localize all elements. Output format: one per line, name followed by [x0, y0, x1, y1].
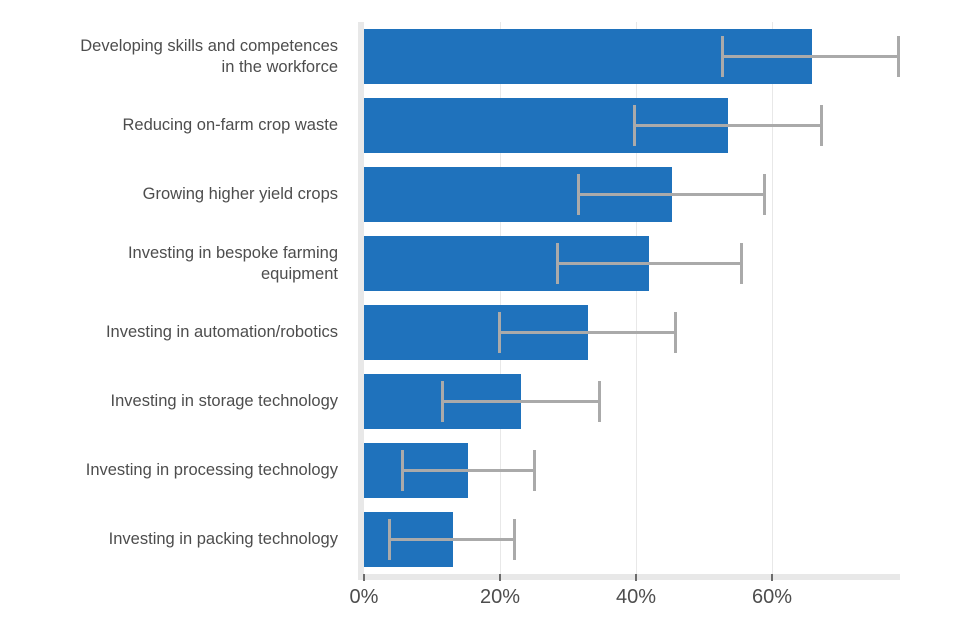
error-bar-line [721, 55, 900, 58]
category-label-text: Investing in packing technology [109, 529, 338, 550]
error-bar-cap-lower [388, 519, 391, 560]
error-bar-cap-upper [674, 312, 677, 353]
category-label-text: Reducing on-farm crop waste [122, 115, 338, 136]
category-label-text: Investing in processing technology [86, 460, 338, 481]
error-bar-cap-upper [820, 105, 823, 146]
error-bar-line [498, 331, 677, 334]
bar-row[interactable] [364, 229, 900, 298]
bar-chart: Developing skills and competences in the… [0, 0, 960, 640]
x-tick-mark [363, 574, 365, 581]
x-tick-label: 20% [480, 586, 520, 609]
bar-row[interactable] [364, 91, 900, 160]
category-label: Growing higher yield crops [0, 160, 352, 229]
error-bar-cap-lower [498, 312, 501, 353]
x-tick-mark [635, 574, 637, 581]
error-bar-cap-upper [598, 381, 601, 422]
plot-area [364, 22, 900, 574]
error-bar-line [388, 538, 516, 541]
bar-row[interactable] [364, 160, 900, 229]
category-label: Investing in packing technology [0, 505, 352, 574]
x-axis-ticks: 0%20%40%60% [0, 582, 960, 622]
category-label-text: Investing in automation/robotics [106, 322, 338, 343]
category-label-text: Investing in storage technology [111, 391, 338, 412]
category-label: Developing skills and competences in the… [0, 22, 352, 91]
category-label-text: Developing skills and competences in the… [80, 36, 338, 78]
x-tick-label: 40% [616, 586, 656, 609]
error-bar-line [401, 469, 536, 472]
x-axis-spine [358, 574, 900, 580]
bar-row[interactable] [364, 436, 900, 505]
bar-row[interactable] [364, 505, 900, 574]
error-bar-line [577, 193, 766, 196]
error-bar-cap-upper [763, 174, 766, 215]
error-bar-cap-upper [740, 243, 743, 284]
category-label: Investing in storage technology [0, 367, 352, 436]
category-label: Investing in automation/robotics [0, 298, 352, 367]
category-label: Investing in processing technology [0, 436, 352, 505]
error-bar-line [633, 124, 823, 127]
x-tick-label: 0% [350, 586, 379, 609]
category-label-text: Growing higher yield crops [143, 184, 338, 205]
y-axis-labels: Developing skills and competences in the… [0, 22, 352, 574]
error-bar-cap-lower [441, 381, 444, 422]
category-label: Reducing on-farm crop waste [0, 91, 352, 160]
x-tick-label: 60% [752, 586, 792, 609]
error-bar-line [556, 262, 743, 265]
error-bar-line [441, 400, 601, 403]
error-bar-cap-upper [533, 450, 536, 491]
error-bar-cap-upper [897, 36, 900, 77]
x-tick-mark [499, 574, 501, 581]
error-bar-cap-lower [577, 174, 580, 215]
error-bar-cap-lower [401, 450, 404, 491]
error-bar-cap-lower [556, 243, 559, 284]
category-label: Investing in bespoke farming equipment [0, 229, 352, 298]
bar-row[interactable] [364, 298, 900, 367]
x-tick-mark [771, 574, 773, 581]
error-bar-cap-lower [633, 105, 636, 146]
error-bar-cap-upper [513, 519, 516, 560]
category-label-text: Investing in bespoke farming equipment [128, 243, 338, 285]
error-bar-cap-lower [721, 36, 724, 77]
bar-row[interactable] [364, 367, 900, 436]
bar-row[interactable] [364, 22, 900, 91]
